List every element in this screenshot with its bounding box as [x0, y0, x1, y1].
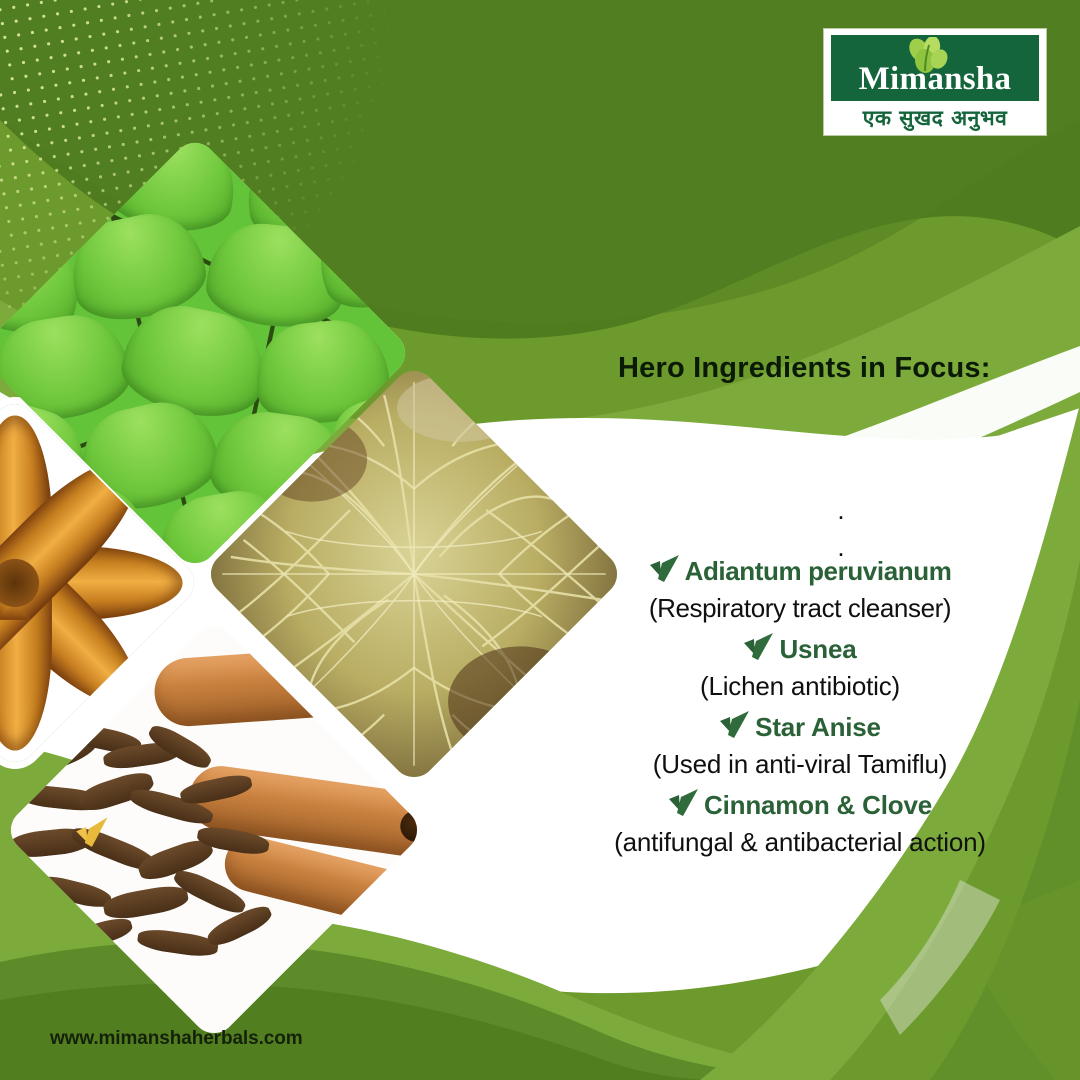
website-url[interactable]: www.mimanshaherbals.com	[50, 1028, 303, 1050]
ingredient-name: Adiantum peruvianum	[685, 556, 952, 586]
ingredient-name: Star Anise	[755, 712, 881, 742]
logo-green-plate: Mimansha	[831, 35, 1039, 101]
ingredient-name-row: Cinnamon & Clove	[530, 786, 1070, 824]
ingredient-list: Adiantum peruvianum (Respiratory tract c…	[530, 552, 1070, 864]
ingredient-item-adiantum: Adiantum peruvianum (Respiratory tract c…	[530, 552, 1070, 626]
check-icon	[743, 633, 777, 663]
ingredient-item-star-anise: Star Anise (Used in anti-viral Tamiflu)	[530, 708, 1070, 782]
ingredient-name-row: Star Anise	[530, 708, 1070, 746]
brand-logo[interactable]: Mimansha एक सुखद अनुभव	[824, 29, 1046, 135]
check-icon	[649, 555, 683, 585]
check-icon	[668, 789, 702, 819]
stray-dot-1: .	[826, 492, 856, 529]
ingredient-item-cinnamon-clove: Cinnamon & Clove (antifungal & antibacte…	[530, 786, 1070, 860]
ingredient-name-row: Usnea	[530, 630, 1070, 668]
watermark-check-icon	[75, 816, 112, 859]
ingredient-name-row: Adiantum peruvianum	[530, 552, 1070, 590]
check-icon	[719, 711, 753, 741]
page-title: Hero Ingredients in Focus:	[618, 352, 991, 385]
logo-wordmark: Mimansha	[859, 63, 1012, 101]
ingredient-description: (Respiratory tract cleanser)	[530, 590, 1070, 626]
ingredient-description: (Lichen antibiotic)	[530, 668, 1070, 704]
ingredient-description: (Used in anti-viral Tamiflu)	[530, 746, 1070, 782]
poster-canvas: Mimansha एक सुखद अनुभव	[0, 0, 1080, 1080]
ingredient-item-usnea: Usnea (Lichen antibiotic)	[530, 630, 1070, 704]
ingredient-description: (antifungal & antibacterial action)	[530, 824, 1070, 860]
logo-tagline: एक सुखद अनुभव	[831, 101, 1039, 135]
ingredient-name: Cinnamon & Clove	[704, 790, 932, 820]
ingredient-name: Usnea	[779, 634, 856, 664]
